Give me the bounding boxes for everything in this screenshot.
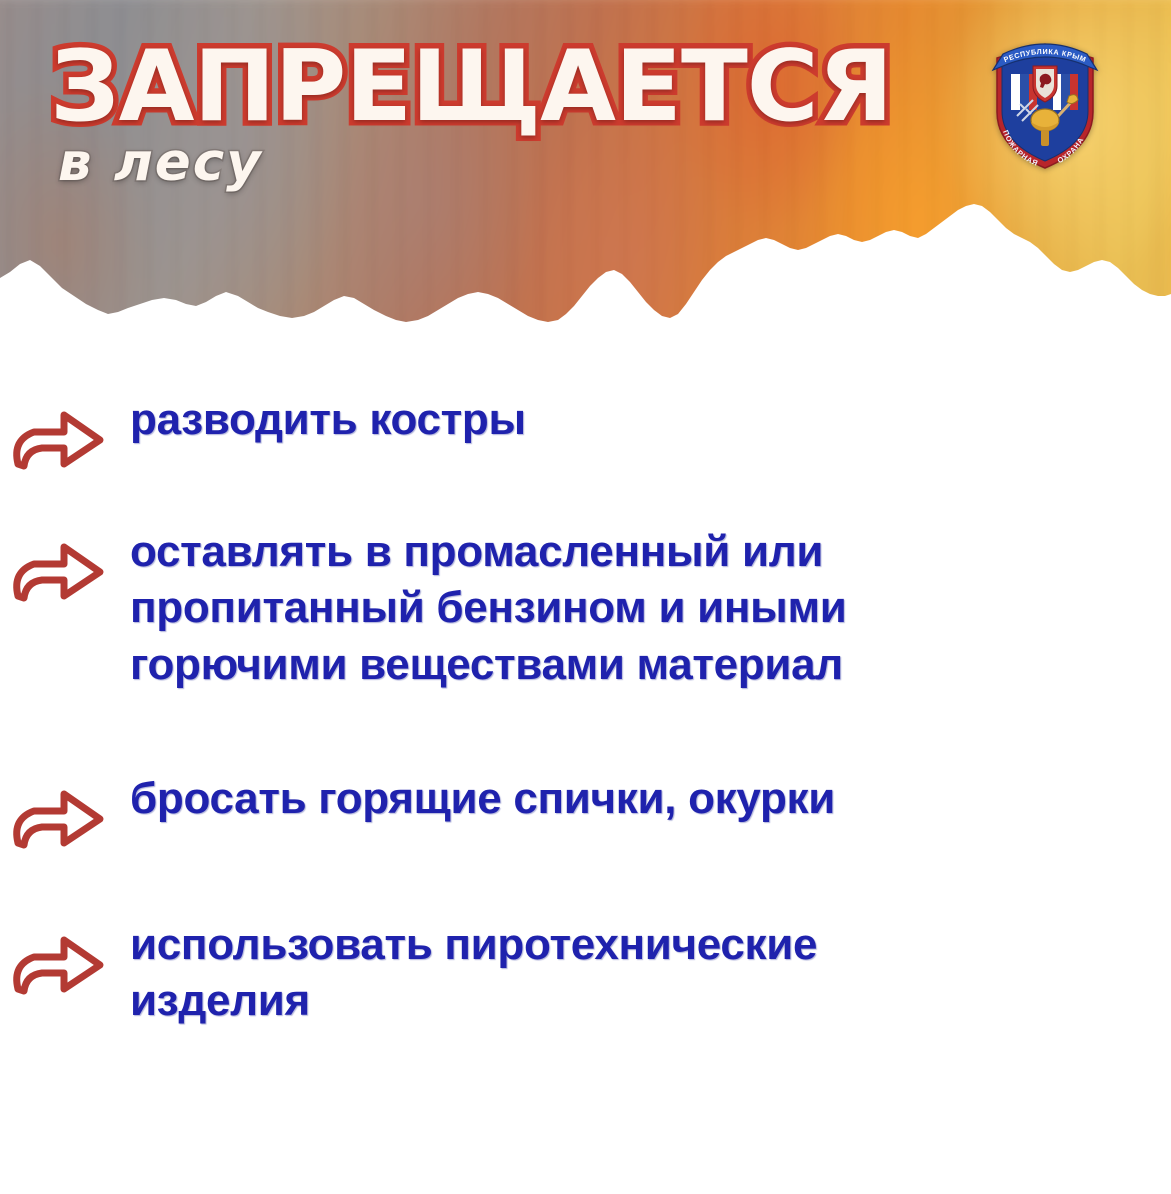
prohibition-list: разводить костры оставлять в промасленны…: [0, 392, 1171, 1030]
curved-arrow-right-icon: [8, 777, 108, 855]
text-line: горючими веществами материал: [130, 637, 1060, 693]
list-item: использовать пиротехнические изделия: [0, 917, 1171, 1030]
curved-arrow-right-icon: [8, 398, 108, 476]
text-line: оставлять в промасленный или: [130, 524, 1060, 580]
text-line: пропитанный бензином и иными: [130, 580, 1060, 636]
list-item-text: бросать горящие спички, окурки: [130, 771, 1060, 827]
curved-arrow-right-icon: [8, 923, 108, 1001]
crimea-fire-service-emblem: РЕСПУБЛИКА КРЫМ ПОЖАРНАЯ ОХРАНА: [987, 30, 1103, 172]
list-item: оставлять в промасленный или пропитанный…: [0, 524, 1171, 693]
poster-title-block: ЗАПРЕЩАЕТСЯ в лесу: [50, 38, 892, 193]
torn-paper-edge: [0, 200, 1171, 340]
list-item: разводить костры: [0, 392, 1171, 476]
hero-banner: ЗАПРЕЩАЕТСЯ в лесу: [0, 0, 1171, 340]
list-item-text: оставлять в промасленный или пропитанный…: [130, 524, 1060, 693]
curved-arrow-right-icon: [8, 530, 108, 608]
text-line: изделия: [130, 973, 1060, 1029]
list-item: бросать горящие спички, окурки: [0, 771, 1171, 855]
list-item-text: разводить костры: [130, 392, 1060, 448]
text-line: бросать горящие спички, окурки: [130, 771, 1060, 827]
text-line: разводить костры: [130, 392, 1060, 448]
page-title: ЗАПРЕЩАЕТСЯ: [50, 38, 892, 136]
list-item-text: использовать пиротехнические изделия: [130, 917, 1060, 1030]
text-line: использовать пиротехнические: [130, 917, 1060, 973]
